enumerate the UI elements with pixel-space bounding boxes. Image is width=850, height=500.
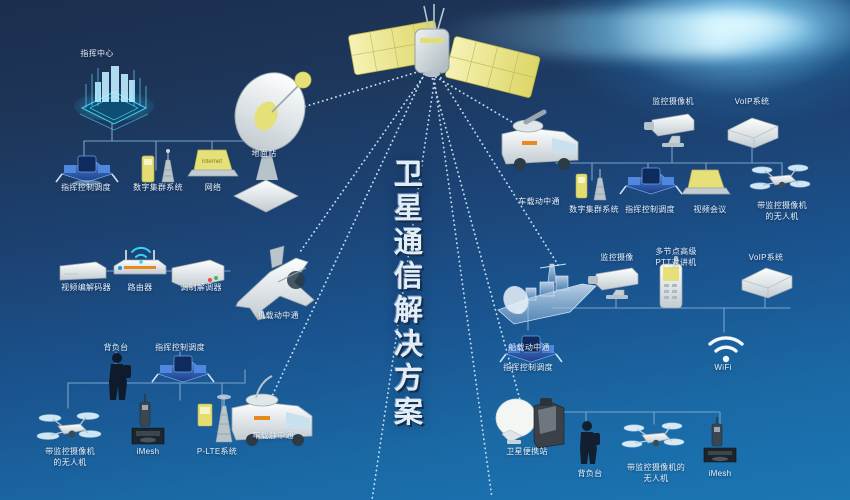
label-imesh: iMesh: [696, 468, 744, 479]
naval-ship-icon: [498, 264, 596, 324]
page-title: 卫 星 通 信 解 决 方 案: [378, 158, 440, 430]
label-digital-trunking-system: 数字集群系统: [122, 182, 194, 193]
aircraft-icon: [236, 246, 314, 320]
laptop-internet-icon: internet: [188, 150, 238, 176]
label-wifi: WiFi: [700, 362, 746, 373]
label-voip-system: VoIP系统: [736, 252, 796, 263]
satellite-icon: [348, 4, 540, 98]
voip-gateway-icon: [742, 268, 792, 298]
wifi-icon: [710, 338, 742, 362]
trunking-radio-icon: [576, 169, 606, 200]
trunking-radio-icon: [142, 149, 174, 182]
label-command-control-dispatch: 指挥控制调度: [614, 204, 686, 215]
label-drone-with-camera: 带监控摄像机 的无人机: [748, 200, 816, 222]
label-network: 网络: [192, 182, 234, 193]
cctv-camera-icon: [644, 114, 694, 147]
svg-text:internet: internet: [202, 159, 222, 165]
label-modem: 调制解调器: [168, 282, 234, 293]
title-char: 案: [378, 396, 440, 430]
voip-gateway-icon: [728, 118, 778, 148]
label-shipborne-sotm: 船载动中通: [496, 342, 562, 353]
imesh-radio-icon: [132, 394, 164, 444]
label-airborne-sotm: 机载动中通: [244, 310, 312, 321]
title-char: 解: [378, 294, 440, 328]
backpack-operator-icon: [580, 421, 600, 464]
label-surveillance-camera: 监控摄像: [586, 252, 648, 263]
cctv-camera-icon: [588, 268, 638, 299]
title-char: 星: [378, 192, 440, 226]
title-char: 通: [378, 226, 440, 260]
video-conference-icon: [682, 170, 730, 194]
label-command-center: 指挥中心: [62, 48, 132, 59]
label-portable-satellite-station: 卫星便携站: [492, 446, 562, 457]
title-char: 方: [378, 362, 440, 396]
label-backpack-station: 背负台: [88, 342, 144, 353]
imesh-radio-icon: [704, 417, 736, 462]
label-command-control-dispatch: 指挥控制调度: [50, 182, 122, 193]
command-console-icon: [152, 356, 214, 382]
portable-satellite-icon: [496, 398, 564, 448]
label-imesh: iMesh: [124, 446, 172, 457]
title-char: 信: [378, 260, 440, 294]
label-cctv-camera: 监控摄像机: [640, 96, 706, 107]
satellite-communication-poster: internet: [0, 0, 850, 500]
label-command-control-dispatch: 指挥控制调度: [492, 362, 564, 373]
command-center-icon: [74, 66, 154, 130]
label-ground-station: 地面站: [232, 148, 296, 159]
label-vehicle-sotp: 车载静中通: [240, 430, 306, 441]
sotm-van-icon: [502, 112, 578, 170]
drone-camera-icon: [622, 423, 684, 447]
command-console-icon: [620, 168, 682, 194]
label-plte-system: P-LTE系统: [186, 446, 248, 457]
plte-tower-icon: [198, 395, 232, 443]
label-voip-system: VoIP系统: [722, 96, 782, 107]
label-backpack-station: 背负台: [562, 468, 618, 479]
video-codec-icon: [60, 262, 106, 280]
label-drone-with-camera: 带监控摄像机 的无人机: [34, 446, 106, 468]
label-router: 路由器: [112, 282, 168, 293]
label-drone-with-camera: 带监控摄像机的 无人机: [616, 462, 696, 484]
drone-camera-icon: [750, 165, 810, 189]
title-char: 决: [378, 328, 440, 362]
drone-camera-icon: [37, 413, 101, 440]
label-video-conference: 视频会议: [682, 204, 738, 215]
label-multinode-ptt-radio: 多节点高级 PTT对讲机: [640, 246, 712, 268]
satellite-dish-icon: [223, 62, 316, 212]
backpack-operator-icon: [109, 353, 131, 400]
router-icon: [114, 248, 166, 274]
title-char: 卫: [378, 158, 440, 192]
label-command-control-dispatch: 指挥控制调度: [144, 342, 216, 353]
